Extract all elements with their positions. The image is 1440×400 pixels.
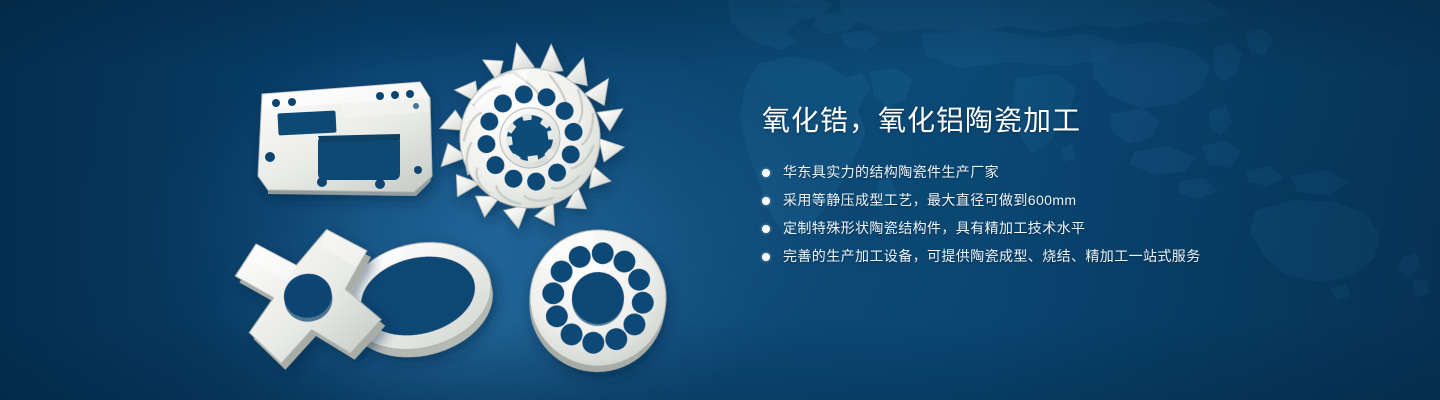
hero-banner: 氧化锆，氧化铝陶瓷加工 华东具实力的结构陶瓷件生产厂家 采用等静压成型工艺，最大… <box>0 0 1440 400</box>
bullet-dot-icon <box>762 169 770 177</box>
bullet-dot-icon <box>762 253 770 261</box>
feature-list: 华东具实力的结构陶瓷件生产厂家 采用等静压成型工艺，最大直径可做到600mm 定… <box>762 162 1362 267</box>
bullet-dot-icon <box>762 197 770 205</box>
list-item-label: 定制特殊形状陶瓷结构件，具有精加工技术水平 <box>783 218 1085 239</box>
ceramic-perforated-disc-part <box>523 223 673 378</box>
ceramic-impeller-part <box>426 30 638 240</box>
list-item: 华东具实力的结构陶瓷件生产厂家 <box>762 162 1362 183</box>
list-item-label: 采用等静压成型工艺，最大直径可做到600mm <box>783 190 1076 211</box>
ceramic-plate-part <box>258 82 432 196</box>
banner-copy: 氧化锆，氧化铝陶瓷加工 华东具实力的结构陶瓷件生产厂家 采用等静压成型工艺，最大… <box>762 104 1362 274</box>
list-item-label: 完善的生产加工设备，可提供陶瓷成型、烧结、精加工一站式服务 <box>783 246 1201 267</box>
page-title: 氧化锆，氧化铝陶瓷加工 <box>762 104 1362 138</box>
list-item: 采用等静压成型工艺，最大直径可做到600mm <box>762 190 1362 211</box>
list-item: 完善的生产加工设备，可提供陶瓷成型、烧结、精加工一站式服务 <box>762 246 1362 267</box>
list-item-label: 华东具实力的结构陶瓷件生产厂家 <box>783 162 999 183</box>
bullet-dot-icon <box>762 225 770 233</box>
list-item: 定制特殊形状陶瓷结构件，具有精加工技术水平 <box>762 218 1362 239</box>
ceramic-products-image <box>0 0 740 400</box>
